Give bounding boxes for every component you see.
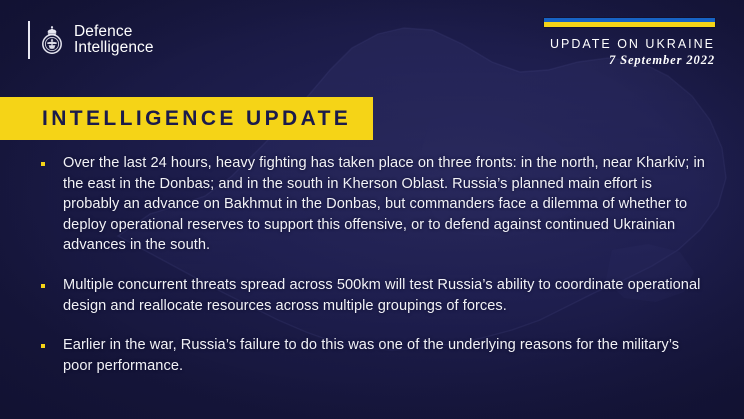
ukraine-flag-bar-icon [544, 18, 715, 27]
list-item: Multiple concurrent threats spread acros… [41, 275, 705, 316]
defence-intelligence-logo: Defence Intelligence [28, 18, 154, 62]
defence-intelligence-crest-icon [39, 21, 65, 59]
update-title: UPDATE ON UKRAINE [415, 36, 715, 52]
bullet-text: Multiple concurrent threats spread acros… [63, 275, 705, 316]
flag-stripe-yellow [544, 22, 715, 27]
intelligence-update-slide: Defence Intelligence UPDATE ON UKRAINE 7… [0, 0, 744, 419]
bullet-text: Over the last 24 hours, heavy fighting h… [63, 153, 705, 256]
intelligence-update-banner: INTELLIGENCE UPDATE [0, 97, 373, 140]
logo-divider-rule [28, 21, 30, 59]
logo-line-defence: Defence [74, 24, 154, 41]
bullet-point-icon [41, 284, 45, 288]
list-item: Over the last 24 hours, heavy fighting h… [41, 153, 705, 256]
banner-label: INTELLIGENCE UPDATE [0, 107, 351, 131]
bullet-point-icon [41, 344, 45, 348]
logo-text: Defence Intelligence [74, 24, 154, 57]
logo-line-intelligence: Intelligence [74, 40, 154, 57]
header-right-block: UPDATE ON UKRAINE 7 September 2022 [415, 18, 715, 69]
bullet-point-icon [41, 162, 45, 166]
update-date: 7 September 2022 [415, 52, 715, 69]
list-item: Earlier in the war, Russia’s failure to … [41, 335, 705, 376]
bullet-text: Earlier in the war, Russia’s failure to … [63, 335, 705, 376]
bullet-list: Over the last 24 hours, heavy fighting h… [41, 153, 705, 376]
